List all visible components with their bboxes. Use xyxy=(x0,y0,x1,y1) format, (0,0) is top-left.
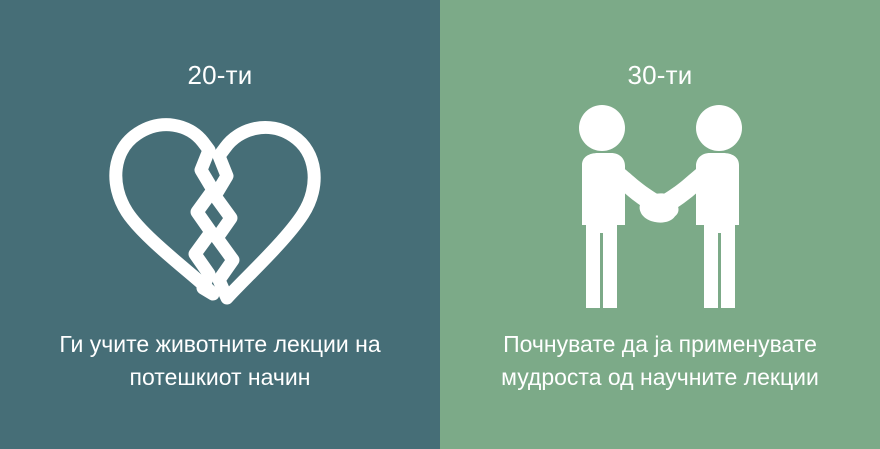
right-person-head xyxy=(696,105,742,151)
panel-twenties: 20-ти Ги учите животните лекции на потеш… xyxy=(0,0,440,449)
icon-area-left xyxy=(0,102,440,314)
panel-heading-left: 20-ти xyxy=(187,62,252,88)
panel-caption-right: Почнувате да ја применувате мудроста од … xyxy=(460,328,860,393)
comparison-graphic: 20-ти Ги учите животните лекции на потеш… xyxy=(0,0,880,449)
panel-heading-right: 30-ти xyxy=(627,62,692,88)
left-person-head xyxy=(579,105,625,151)
panel-caption-left: Ги учите животните лекции на потешкиот н… xyxy=(20,328,420,393)
broken-heart-icon xyxy=(105,108,335,308)
icon-area-right xyxy=(440,102,880,314)
handshake-icon xyxy=(573,103,748,313)
panel-thirties: 30-ти xyxy=(440,0,880,449)
